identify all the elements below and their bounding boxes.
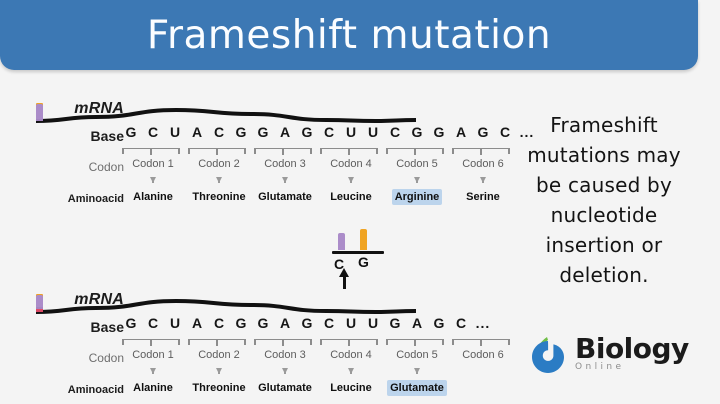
aminoacid-cell: Arginine — [384, 189, 450, 205]
aminoacid-label: Alanine — [130, 380, 176, 396]
codon-labels-top: Codon 1Codon 2Codon 3Codon 4Codon 5Codon… — [120, 158, 516, 170]
codon-bracket — [254, 339, 312, 348]
nucleotide — [36, 104, 43, 121]
label-codon-top: Codon — [32, 160, 124, 174]
diagram-canvas: Frameshift mutation mRNA Base Codon Amin… — [0, 0, 720, 404]
down-arrow-icon — [282, 368, 288, 374]
base-letter: G — [472, 124, 494, 140]
codon-bracket — [452, 339, 510, 348]
aminoacid-cell: Leucine — [318, 380, 384, 396]
base-letter: U — [340, 124, 362, 140]
codon-label: Codon 1 — [120, 349, 186, 361]
down-arrow-icon — [414, 177, 420, 183]
codon-label: Codon 5 — [384, 349, 450, 361]
down-arrow-icon — [150, 177, 156, 183]
codon-to-amino-arrow — [186, 177, 252, 183]
codon-to-amino-arrow — [120, 177, 186, 183]
codon-bracket — [254, 148, 312, 157]
base-letter: G — [296, 315, 318, 331]
aminoacid-cell: Leucine — [318, 189, 384, 205]
base-letter: G — [406, 124, 428, 140]
codon-to-amino-arrow — [384, 177, 450, 183]
aminoacid-cell — [450, 380, 516, 396]
base-letter: G — [252, 124, 274, 140]
aminoacid-label: Glutamate — [255, 189, 315, 205]
codon-to-amino-arrow — [120, 368, 186, 374]
base-letter: C — [208, 315, 230, 331]
nucleotide — [36, 295, 43, 309]
base-letter: C — [384, 124, 406, 140]
codon-label: Codon 2 — [186, 158, 252, 170]
down-arrow-icon — [150, 368, 156, 374]
aminoacid-cell: Threonine — [186, 380, 252, 396]
codon-arrows-top — [120, 177, 516, 183]
aminoacid-label: Leucine — [327, 189, 375, 205]
caption-text: Frameshiftmutations maybe caused bynucle… — [496, 110, 712, 290]
codon-label: Codon 4 — [318, 158, 384, 170]
logo-text: Biology Online — [575, 335, 689, 372]
codon-labels-bottom: Codon 1Codon 2Codon 3Codon 4Codon 5Codon… — [120, 349, 516, 361]
aminoacid-cell: Glutamate — [252, 380, 318, 396]
codon-label: Codon 3 — [252, 158, 318, 170]
aminoacid-highlighted: Glutamate — [387, 380, 447, 396]
caption-line-4: insertion or — [496, 230, 712, 260]
base-letter: A — [406, 315, 428, 331]
base-letter: A — [186, 315, 208, 331]
aminoacid-row-top: AlanineThreonineGlutamateLeucineArginine… — [120, 189, 516, 205]
label-codon-bottom: Codon — [32, 351, 124, 365]
base-sequence-top: GCUACGGAGCUUCGGAGC... — [120, 124, 538, 140]
base-sequence-bottom: GCUACGGAGCUUGAGC... — [120, 315, 494, 331]
nucleotide-row-top — [36, 92, 416, 122]
codon-to-amino-arrow — [252, 177, 318, 183]
label-aminoacid-top: Aminoacid — [32, 193, 124, 205]
base-letter: G — [428, 124, 450, 140]
codon-label: Codon 4 — [318, 349, 384, 361]
base-letter: U — [164, 124, 186, 140]
aminoacid-highlighted: Arginine — [392, 189, 443, 205]
codon-bracket — [320, 148, 378, 157]
callout-letter-g: G — [358, 254, 369, 270]
base-letter: U — [362, 315, 384, 331]
down-arrow-icon — [216, 368, 222, 374]
base-letter: C — [208, 124, 230, 140]
base-letter: C — [142, 124, 164, 140]
base-letter: G — [428, 315, 450, 331]
base-letter: G — [230, 124, 252, 140]
base-letter: G — [252, 315, 274, 331]
down-arrow-icon — [348, 368, 354, 374]
base-letter: G — [120, 124, 142, 140]
codon-to-amino-arrow — [450, 368, 516, 374]
codon-bracket — [386, 148, 444, 157]
base-letter: U — [340, 315, 362, 331]
aminoacid-cell: Glutamate — [384, 380, 450, 396]
base-letter: G — [120, 315, 142, 331]
nucleotide-row-bottom — [36, 283, 416, 313]
callout-nucleotide — [360, 229, 367, 250]
codon-bracket — [320, 339, 378, 348]
aminoacid-cell: Glutamate — [252, 189, 318, 205]
label-base-top: Base — [32, 128, 124, 144]
down-arrow-icon — [480, 177, 486, 183]
down-arrow-icon — [414, 368, 420, 374]
codon-label: Codon 6 — [450, 349, 516, 361]
logo-name: Biology — [575, 335, 689, 363]
base-letter: G — [296, 124, 318, 140]
caption-line-5: deletion. — [496, 260, 712, 290]
base-letter: C — [318, 315, 340, 331]
codon-bracket — [122, 339, 180, 348]
page-title: Frameshift mutation — [0, 0, 698, 70]
codon-bracket — [122, 148, 180, 157]
logo-mark-icon — [528, 333, 568, 373]
codon-to-amino-arrow — [384, 368, 450, 374]
label-base-bottom: Base — [32, 319, 124, 335]
base-letter: C — [142, 315, 164, 331]
aminoacid-label: Glutamate — [255, 380, 315, 396]
base-letter: A — [450, 124, 472, 140]
down-arrow-icon — [216, 177, 222, 183]
aminoacid-label: Leucine — [327, 380, 375, 396]
down-arrow-icon — [282, 177, 288, 183]
base-letter: A — [186, 124, 208, 140]
codon-bracket — [386, 339, 444, 348]
title-banner: Frameshift mutation — [0, 0, 698, 70]
aminoacid-cell: Threonine — [186, 189, 252, 205]
caption-line-1: mutations may — [496, 140, 712, 170]
base-letter: U — [362, 124, 384, 140]
callout-nucleotide — [338, 233, 345, 250]
caption-line-2: be caused by — [496, 170, 712, 200]
codon-to-amino-arrow — [252, 368, 318, 374]
codon-to-amino-arrow — [186, 368, 252, 374]
aminoacid-label: Threonine — [189, 189, 248, 205]
base-letter: G — [230, 315, 252, 331]
base-letter: A — [274, 124, 296, 140]
aminoacid-cell: Alanine — [120, 189, 186, 205]
codon-label: Codon 5 — [384, 158, 450, 170]
aminoacid-cell: Alanine — [120, 380, 186, 396]
callout-nucleotides — [330, 228, 386, 250]
codon-label: Codon 1 — [120, 158, 186, 170]
codon-label: Codon 3 — [252, 349, 318, 361]
biology-online-logo[interactable]: Biology Online — [528, 333, 689, 373]
base-ellipsis: ... — [472, 315, 494, 331]
base-letter: C — [450, 315, 472, 331]
caption-line-0: Frameshift — [496, 110, 712, 140]
codon-to-amino-arrow — [318, 177, 384, 183]
base-letter: A — [274, 315, 296, 331]
codon-bracket — [188, 339, 246, 348]
aminoacid-label: Alanine — [130, 189, 176, 205]
down-arrow-icon — [348, 177, 354, 183]
aminoacid-label — [480, 380, 486, 396]
caption-line-3: nucleotide — [496, 200, 712, 230]
base-letter: G — [384, 315, 406, 331]
codon-bracket — [188, 148, 246, 157]
codon-label: Codon 2 — [186, 349, 252, 361]
codon-to-amino-arrow — [318, 368, 384, 374]
aminoacid-row-bottom: AlanineThreonineGlutamateLeucineGlutamat… — [120, 380, 516, 396]
label-aminoacid-bottom: Aminoacid — [32, 384, 124, 396]
aminoacid-label: Threonine — [189, 380, 248, 396]
base-letter: U — [164, 315, 186, 331]
base-letter: C — [318, 124, 340, 140]
codon-arrows-bottom — [120, 368, 516, 374]
